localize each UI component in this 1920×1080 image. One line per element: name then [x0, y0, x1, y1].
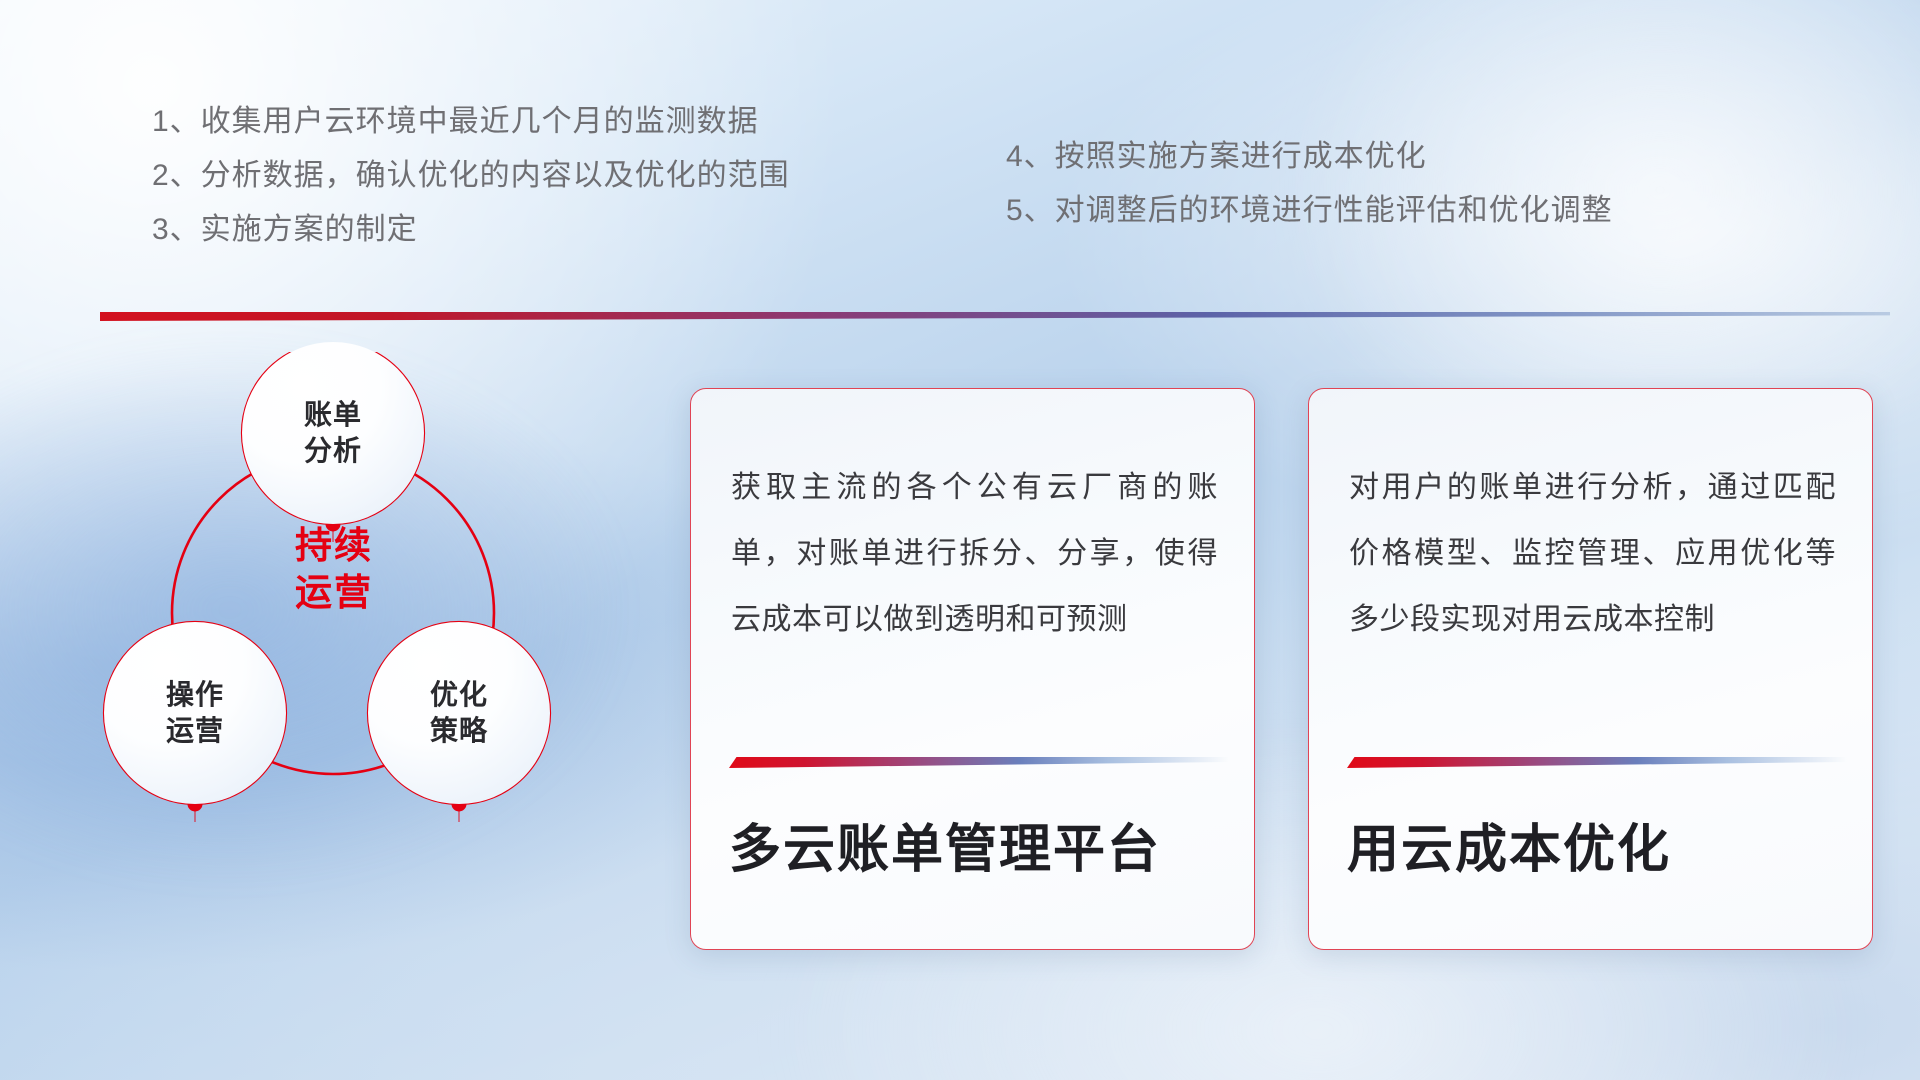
bubble-bill-analysis[interactable]: 账单 分析 [242, 342, 424, 524]
card-divider [729, 757, 1229, 768]
step-item-4: 4、按照实施方案进行成本优化 [1006, 130, 1613, 184]
card-divider [1347, 757, 1847, 768]
step-item-1: 1、收集用户云环境中最近几个月的监测数据 [152, 95, 790, 149]
card-cloud-cost-optimization[interactable]: 对用户的账单进行分析，通过匹配价格模型、监控管理、应用优化等多少段实现对用云成本… [1308, 388, 1873, 950]
card-body-text: 对用户的账单进行分析，通过匹配价格模型、监控管理、应用优化等多少段实现对用云成本… [1349, 455, 1836, 653]
bubble-bill-analysis-line1: 账单 [304, 399, 362, 430]
card-multi-cloud-billing-platform[interactable]: 获取主流的各个公有云厂商的账单，对账单进行拆分、分享，使得云成本可以做到透明和可… [690, 388, 1255, 950]
step-item-3: 3、实施方案的制定 [152, 203, 790, 257]
bubble-bill-analysis-line2: 分析 [304, 435, 362, 466]
bubble-operations-line1: 操作 [166, 679, 224, 710]
bubble-operations-line2: 运营 [166, 715, 224, 746]
card-title: 用云成本优化 [1347, 807, 1842, 882]
step-item-5: 5、对调整后的环境进行性能评估和优化调整 [1006, 184, 1613, 238]
bubble-operations-label: 操作 运营 [166, 677, 224, 749]
steps-right-column: 4、按照实施方案进行成本优化 5、对调整后的环境进行性能评估和优化调整 [1006, 130, 1613, 238]
card-body-text: 获取主流的各个公有云厂商的账单，对账单进行拆分、分享，使得云成本可以做到透明和可… [731, 455, 1218, 653]
bubble-optimization-strategy-line1: 优化 [430, 679, 488, 710]
card-title: 多云账单管理平台 [729, 807, 1224, 882]
step-item-2: 2、分析数据，确认优化的内容以及优化的范围 [152, 149, 790, 203]
diagram-center-label: 持续 运营 [244, 522, 424, 617]
steps-section: 1、收集用户云环境中最近几个月的监测数据 2、分析数据，确认优化的内容以及优化的… [0, 95, 1920, 265]
bubble-optimization-strategy-line2: 策略 [430, 715, 488, 746]
bubble-bill-analysis-label: 账单 分析 [304, 397, 362, 469]
diagram-center-label-line1: 持续 [295, 525, 373, 566]
diagram-center-label-line2: 运营 [295, 572, 373, 613]
steps-left-column: 1、收集用户云环境中最近几个月的监测数据 2、分析数据，确认优化的内容以及优化的… [152, 95, 790, 257]
bubble-optimization-strategy-label: 优化 策略 [430, 677, 488, 749]
bubble-optimization-strategy[interactable]: 优化 策略 [368, 622, 550, 804]
bubble-operations[interactable]: 操作 运营 [104, 622, 286, 804]
continuous-operation-diagram: 账单 分析 操作 运营 优化 策略 持续 运营 [96, 352, 626, 952]
